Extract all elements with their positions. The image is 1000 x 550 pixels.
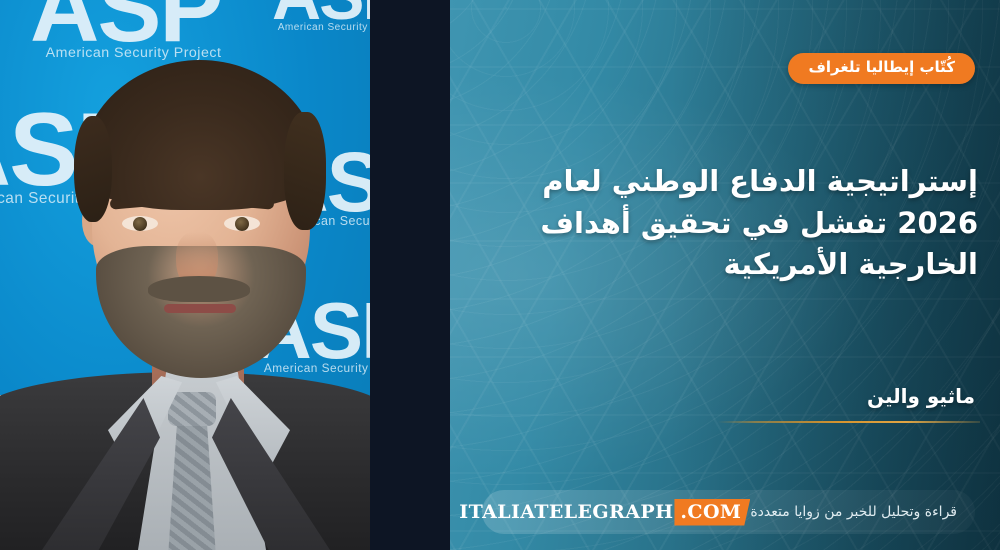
author-photo: ASP American Security Project ASP Americ… bbox=[0, 0, 370, 550]
portrait-figure bbox=[0, 0, 370, 550]
site-tagline: قراءة وتحليل للخبر من زوايا متعددة bbox=[750, 504, 957, 520]
panel-divider bbox=[370, 0, 450, 550]
iris-left bbox=[133, 217, 147, 231]
site-logo-name: ITALIATELEGRAPH bbox=[459, 501, 673, 523]
hair bbox=[80, 60, 320, 210]
site-logo[interactable]: ITALIATELEGRAPH.COM bbox=[459, 499, 750, 526]
author-divider bbox=[718, 421, 980, 423]
site-logo-tld: .COM bbox=[674, 499, 750, 526]
author-name: ماثيو والين bbox=[645, 384, 975, 408]
mouth bbox=[164, 304, 236, 313]
category-badge[interactable]: كُتّاب إيطاليا تلغراف bbox=[788, 53, 975, 84]
iris-right bbox=[235, 217, 249, 231]
content-panel: كُتّاب إيطاليا تلغراف إستراتيجية الدفاع … bbox=[450, 0, 1000, 550]
mustache bbox=[148, 276, 250, 302]
footer-bar: قراءة وتحليل للخبر من زوايا متعددة ITALI… bbox=[482, 490, 975, 534]
eye-right bbox=[224, 216, 260, 231]
necktie-knot bbox=[168, 392, 216, 426]
eye-left bbox=[122, 216, 158, 231]
article-share-card: ASP American Security Project ASP Americ… bbox=[0, 0, 1000, 550]
page-title: إستراتيجية الدفاع الوطني لعام 2026 تفشل … bbox=[470, 161, 978, 285]
